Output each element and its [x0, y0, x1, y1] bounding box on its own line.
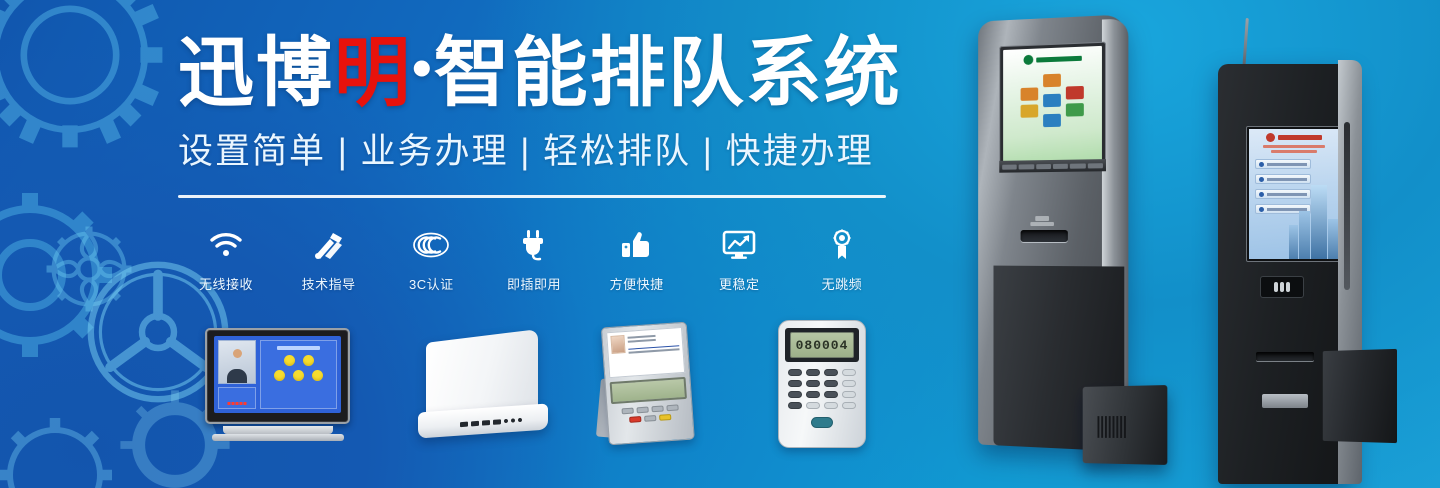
feature-label: 即插即用 [507, 274, 561, 293]
app-tile[interactable] [1021, 104, 1039, 117]
product-desk-evaluator [601, 321, 709, 452]
icbc-skyline-image [1287, 181, 1339, 259]
evaluator-key[interactable] [651, 405, 663, 412]
keypad-key[interactable] [806, 391, 820, 398]
evaluator-key[interactable] [621, 408, 633, 415]
ccc-certification-icon [412, 228, 450, 262]
app-tile[interactable] [1043, 94, 1061, 108]
feature-label: 更稳定 [719, 274, 760, 293]
kiosk-abc [962, 18, 1162, 488]
keypad-key[interactable] [788, 380, 802, 387]
monitor-base [212, 434, 344, 441]
staff-photo [218, 340, 256, 384]
kiosk-icbc-screen[interactable] [1249, 129, 1339, 259]
emoji-row-bottom [263, 370, 334, 381]
evaluator-keypad [612, 404, 689, 424]
keypad-body: 080004 [778, 320, 866, 448]
subtitle: 设置简单 | 业务办理 | 轻松排队 | 快捷办理 [178, 134, 890, 169]
gear-icon [0, 0, 180, 165]
title-part-2: 智能排队系统 [434, 31, 902, 116]
icbc-menu-item[interactable] [1255, 159, 1311, 169]
rating-stars [228, 402, 247, 405]
emoji-dissatisfied-icon [312, 370, 323, 381]
kiosk-icbc-screen-frame [1246, 126, 1342, 262]
wifi-icon [209, 228, 243, 262]
port-usb [460, 422, 468, 428]
kiosk-icbc-antenna [1242, 18, 1249, 70]
kiosk-abc-screen-frame [999, 42, 1106, 173]
keypad-key[interactable] [788, 402, 802, 409]
icbc-bank-logo [1249, 129, 1339, 142]
keypad-key[interactable] [806, 380, 820, 387]
keypad-enter-button[interactable] [811, 417, 833, 428]
ticket-dispenser-slot [1256, 352, 1314, 361]
feature-label: 无跳频 [822, 274, 863, 293]
product-white-controller [418, 336, 548, 444]
title-separator-dot: • [412, 36, 434, 99]
page-title: 迅博明•智能排队系统 [178, 36, 890, 112]
feature-item-support: 技术指导 [281, 228, 377, 293]
monitor-rating-panel [260, 340, 337, 409]
feature-label: 无线接收 [199, 274, 253, 293]
icbc-notice-line [1263, 145, 1325, 148]
port-usb [471, 421, 479, 427]
keypad-key[interactable] [842, 402, 856, 409]
monitor-stand [223, 426, 333, 434]
evaluator-key-red[interactable] [629, 416, 641, 423]
port-power [518, 418, 522, 422]
port-aux [504, 419, 508, 423]
kiosk-icbc-brand-plate [1262, 394, 1308, 408]
abc-app-grid [1011, 72, 1094, 128]
emoji-row-top [263, 355, 334, 366]
gear-icon [30, 210, 148, 328]
keypad-key[interactable] [824, 380, 838, 387]
card-reader[interactable] [1260, 276, 1304, 298]
kiosk-abc-vents [1097, 416, 1125, 438]
title-accent-char: 明 [334, 31, 412, 116]
staff-info [218, 387, 256, 409]
staff-name-lines [627, 331, 681, 372]
emoji-neutral-icon [293, 370, 304, 381]
app-tile[interactable] [1066, 103, 1084, 117]
product-handheld-keypad: 080004 [778, 320, 866, 448]
app-tile[interactable] [1043, 114, 1061, 127]
port-aux [511, 418, 515, 422]
feature-label: 方便快捷 [610, 274, 664, 293]
keypad-lcd-display: 080004 [790, 332, 854, 358]
headline-block: 迅博明•智能排队系统 设置简单 | 业务办理 | 轻松排队 | 快捷办理 [178, 36, 890, 198]
feature-label: 技术指导 [302, 274, 356, 293]
evaluator-name-card [606, 327, 685, 378]
kiosk-abc-screen[interactable] [1003, 46, 1102, 169]
thumbs-up-icon [620, 228, 654, 262]
emoji-satisfied-icon [303, 355, 314, 366]
keypad-screen-housing: 080004 [785, 328, 859, 362]
kiosk-icbc-rail-groove [1344, 122, 1350, 290]
evaluator-key[interactable] [636, 407, 648, 414]
monitor-screen [214, 336, 341, 413]
evaluator-lcd [610, 377, 687, 404]
emoji-basic-icon [274, 370, 285, 381]
icbc-notice-line [1271, 150, 1317, 153]
keypad-key[interactable] [806, 402, 820, 409]
port-lan [482, 420, 490, 426]
keypad-key[interactable] [842, 380, 856, 387]
product-evaluation-monitor [205, 328, 350, 440]
evaluator-key[interactable] [644, 415, 656, 422]
evaluator-body [601, 322, 695, 446]
abc-bottom-toolbar[interactable] [1003, 159, 1102, 169]
keypad-key[interactable] [824, 402, 838, 409]
evaluator-key[interactable] [666, 404, 678, 411]
feature-item-stable: 更稳定 [691, 228, 787, 293]
ticket-dispenser-slot [1021, 230, 1068, 242]
emoji-very-satisfied-icon [284, 355, 295, 366]
feature-label: 3C认证 [409, 274, 454, 293]
promo-banner: 迅博明•智能排队系统 设置简单 | 业务办理 | 轻松排队 | 快捷办理 无线接… [0, 0, 1440, 488]
tools-icon [313, 228, 345, 262]
divider-line [178, 195, 886, 198]
rating-prompt [277, 346, 320, 350]
kiosk-icbc [1200, 20, 1400, 488]
monitor-bezel [205, 328, 350, 424]
title-part-1: 迅博 [178, 31, 334, 116]
keypad-key[interactable] [788, 391, 802, 398]
keypad-buttons [785, 369, 859, 409]
feature-list: 无线接收 技术指导 [178, 228, 890, 293]
feature-item-3c: 3C认证 [383, 228, 479, 293]
abc-bank-logo [1023, 53, 1081, 65]
ticket-printer-icon [1028, 214, 1056, 226]
award-ribbon-icon [830, 228, 854, 262]
staff-photo [610, 335, 625, 354]
feature-item-convenient: 方便快捷 [589, 228, 685, 293]
keypad-key[interactable] [806, 369, 820, 376]
feature-item-plugplay: 即插即用 [486, 228, 582, 293]
keypad-key[interactable] [842, 391, 856, 398]
product-showcase: 080004 [0, 318, 900, 458]
keypad-key[interactable] [788, 369, 802, 376]
evaluator-key-yellow[interactable] [659, 414, 671, 421]
kiosk-icbc-base [1323, 349, 1397, 443]
port-lan [493, 419, 501, 425]
monitor-staff-panel [218, 340, 256, 409]
card-reader-icon [1274, 282, 1290, 292]
plug-icon [520, 228, 548, 262]
feature-item-nohop: 无跳频 [794, 228, 890, 293]
kiosk-abc-base [1083, 385, 1168, 465]
monitor-chart-icon [722, 228, 756, 262]
app-tile[interactable] [1021, 87, 1039, 100]
keypad-key[interactable] [842, 369, 856, 376]
app-tile[interactable] [1043, 74, 1061, 88]
keypad-key[interactable] [824, 391, 838, 398]
feature-item-wifi: 无线接收 [178, 228, 274, 293]
app-tile[interactable] [1066, 86, 1084, 100]
keypad-key[interactable] [824, 369, 838, 376]
